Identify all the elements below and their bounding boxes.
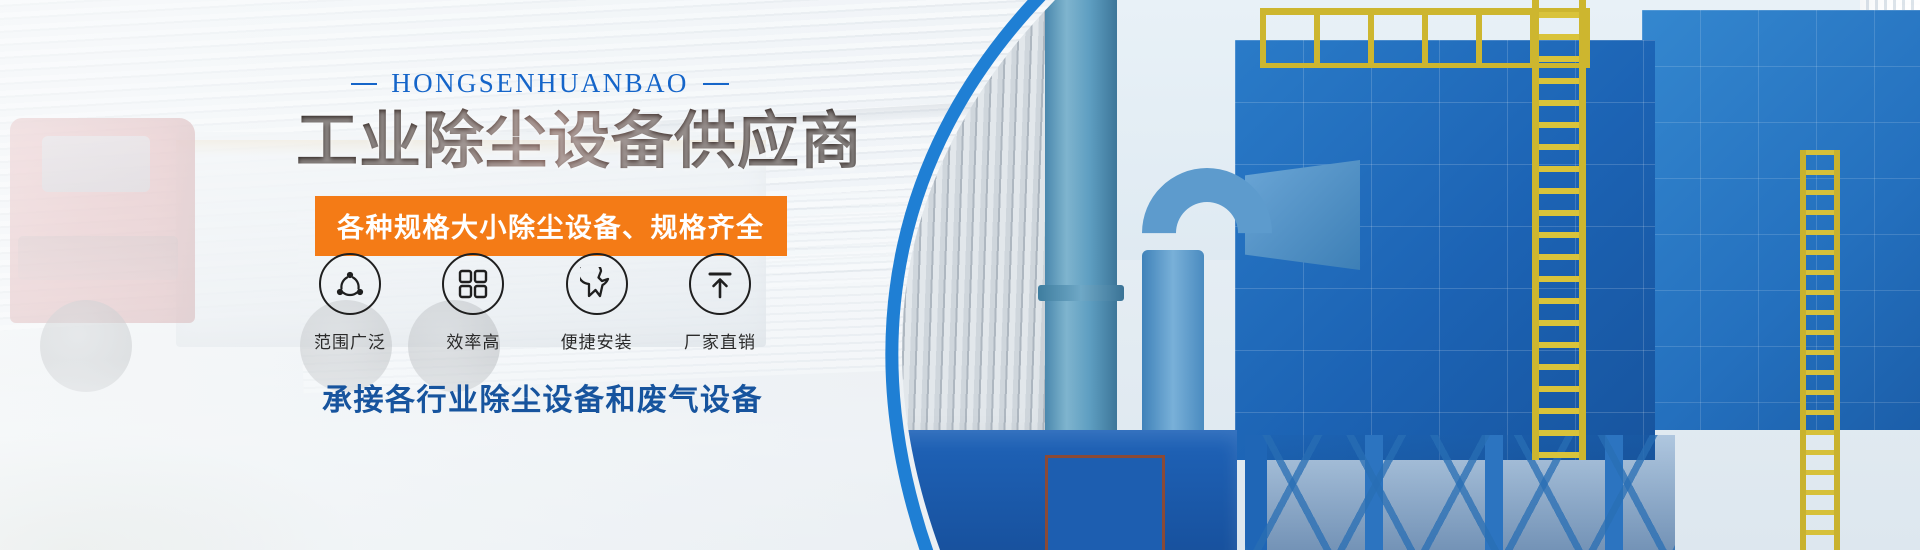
banner-content: HONGSENHUANBAO 工业除尘设备供应商 各种规格大小除尘设备、规格齐全 xyxy=(0,0,900,550)
brand-pinyin: HONGSENHUANBAO xyxy=(300,68,780,99)
brand-pinyin-text: HONGSENHUANBAO xyxy=(391,68,689,99)
support-legs xyxy=(1245,435,1675,550)
feature-item-efficiency[interactable]: 效率高 xyxy=(423,253,523,353)
feature-icon-circle xyxy=(442,253,504,315)
feature-icon-circle xyxy=(566,253,628,315)
page-title: 工业除尘设备供应商 xyxy=(296,108,856,176)
yellow-ladder-cage xyxy=(1532,0,1586,460)
feature-icon-circle xyxy=(319,253,381,315)
network-nodes-icon xyxy=(333,267,367,301)
feature-label: 便捷安装 xyxy=(547,328,647,353)
sub-headline: 承接各行业除尘设备和废气设备 xyxy=(322,375,763,419)
access-door xyxy=(1045,455,1165,550)
dash-right-icon xyxy=(703,83,729,85)
grid-squares-icon xyxy=(457,268,489,300)
feature-label: 效率高 xyxy=(423,328,523,353)
feature-label: 范围广泛 xyxy=(300,328,400,353)
feature-item-installation[interactable]: 便捷安装 xyxy=(547,253,647,353)
feature-item-factory-direct[interactable]: 厂家直销 xyxy=(670,253,770,353)
baghouse-unit-secondary xyxy=(1642,10,1920,430)
stack-flange xyxy=(1038,285,1124,301)
wrench-icon xyxy=(580,267,614,301)
feature-item-range[interactable]: 范围广泛 xyxy=(300,253,400,353)
feature-list: 范围广泛 效率高 xyxy=(300,253,770,353)
hero-banner: HONGSENHUANBAO 工业除尘设备供应商 各种规格大小除尘设备、规格齐全 xyxy=(0,0,1920,550)
feature-label: 厂家直销 xyxy=(670,328,770,353)
yellow-ladder-cage xyxy=(1800,150,1840,550)
tagline-badge: 各种规格大小除尘设备、规格齐全 xyxy=(315,196,787,256)
arrow-up-to-bar-icon xyxy=(703,267,737,301)
exhaust-stack xyxy=(1045,0,1117,440)
feature-icon-circle xyxy=(689,253,751,315)
dash-left-icon xyxy=(351,83,377,85)
